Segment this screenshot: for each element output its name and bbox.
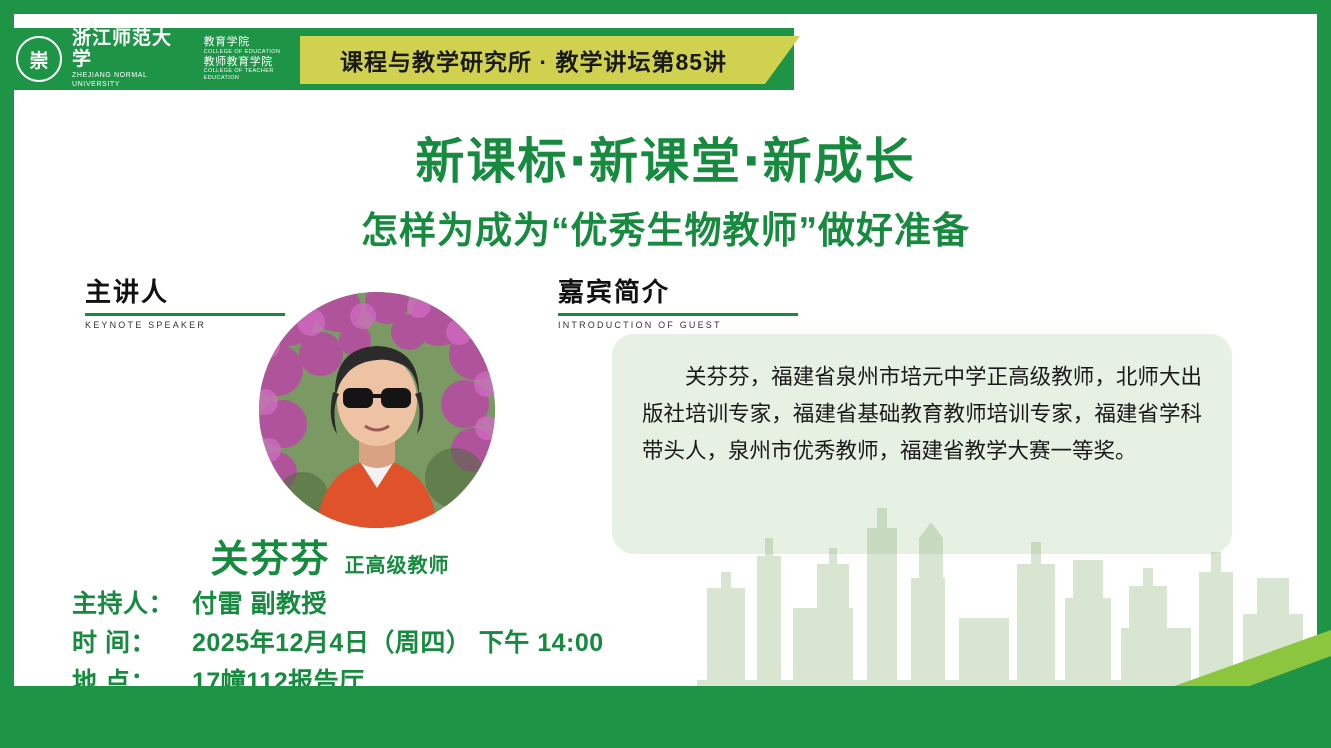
info-label-host: 主持人： bbox=[72, 585, 192, 624]
lecture-series-label: 课程与教学研究所 · 教学讲坛第85讲 bbox=[340, 43, 727, 77]
frame-top-border bbox=[0, 0, 1331, 14]
college-name-cn-2: 教师教育学院 bbox=[204, 56, 306, 69]
university-name-en: ZHEJIANG NORMAL UNIVERSITY bbox=[72, 72, 192, 90]
section-heading-speaker-rule bbox=[85, 313, 285, 316]
college-name-cn: 教育学院 bbox=[204, 36, 306, 49]
speaker-name-row: 关芬芬 正高级教师 bbox=[120, 528, 540, 583]
info-label-time: 时 间： bbox=[72, 624, 192, 663]
university-logo: 崇 浙江师范大学 ZHEJIANG NORMAL UNIVERSITY 教育学院… bbox=[16, 30, 306, 88]
college-name-block: 教育学院 COLLEGE OF EDUCATION 教师教育学院 COLLEGE… bbox=[204, 36, 306, 81]
section-heading-guest-cn: 嘉宾简介 bbox=[558, 272, 798, 309]
campus-silhouette-icon bbox=[697, 468, 1317, 688]
page-subtitle: 怎样为成为“优秀生物教师”做好准备 bbox=[0, 200, 1331, 254]
info-value-host: 付雷 副教授 bbox=[192, 585, 327, 624]
page-title: 新课标·新课堂·新成长 bbox=[0, 122, 1331, 193]
section-heading-speaker-en: KEYNOTE SPEAKER bbox=[85, 320, 285, 330]
frame-left-border bbox=[0, 0, 14, 748]
section-heading-guest: 嘉宾简介 INTRODUCTION OF GUEST bbox=[558, 272, 798, 330]
college-name-en-2: COLLEGE OF TEACHER EDUCATION bbox=[204, 68, 306, 81]
section-heading-speaker-cn: 主讲人 bbox=[85, 272, 285, 309]
seal-glyph: 崇 bbox=[29, 46, 48, 73]
info-row-time: 时 间： 2025年12月4日（周四） 下午 14:00 bbox=[72, 624, 604, 663]
section-heading-guest-en: INTRODUCTION OF GUEST bbox=[558, 320, 798, 330]
lecture-series-ribbon: 课程与教学研究所 · 教学讲坛第85讲 bbox=[300, 36, 800, 84]
speaker-portrait bbox=[259, 292, 495, 528]
guest-intro-text: 关芬芬，福建省泉州市培元中学正高级教师，北师大出版社培训专家，福建省基础教育教师… bbox=[642, 360, 1202, 471]
university-name-cn: 浙江师范大学 bbox=[72, 28, 192, 70]
speaker-portrait-image bbox=[259, 292, 495, 528]
event-info: 主持人： 付雷 副教授 时 间： 2025年12月4日（周四） 下午 14:00… bbox=[72, 585, 604, 701]
info-row-host: 主持人： 付雷 副教授 bbox=[72, 585, 604, 624]
speaker-title: 正高级教师 bbox=[345, 549, 450, 578]
speaker-name: 关芬芬 bbox=[210, 528, 330, 583]
info-value-time: 2025年12月4日（周四） 下午 14:00 bbox=[192, 624, 604, 663]
section-heading-speaker: 主讲人 KEYNOTE SPEAKER bbox=[85, 272, 285, 330]
university-seal-icon: 崇 bbox=[16, 36, 62, 82]
university-name-block: 浙江师范大学 ZHEJIANG NORMAL UNIVERSITY bbox=[72, 28, 192, 89]
section-heading-guest-rule bbox=[558, 313, 798, 316]
